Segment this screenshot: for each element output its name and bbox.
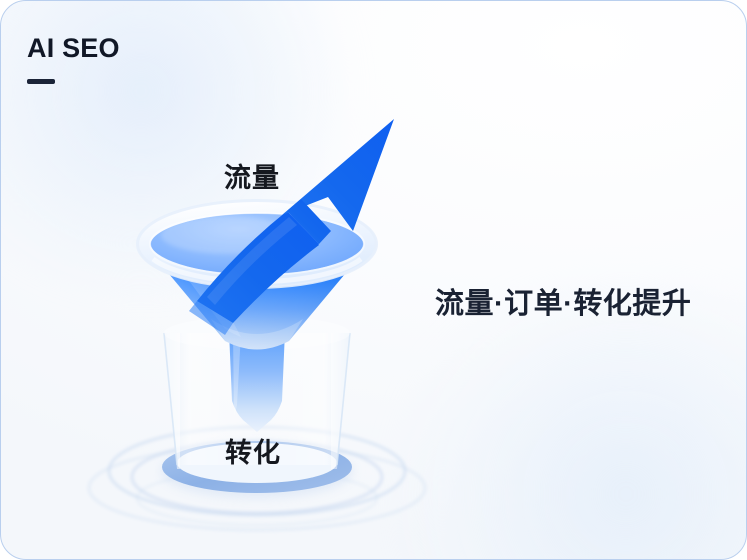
- tagline: 流量·订单·转化提升: [435, 280, 691, 322]
- funnel-label-conversion: 转化: [225, 431, 281, 470]
- page-title: AI SEO: [27, 35, 120, 62]
- illustration-card: AI SEO 流量·订单·转化提升: [0, 0, 747, 560]
- title-underline-accent: [27, 79, 55, 84]
- header: AI SEO: [27, 35, 120, 84]
- funnel-label-traffic: 流量: [224, 156, 280, 195]
